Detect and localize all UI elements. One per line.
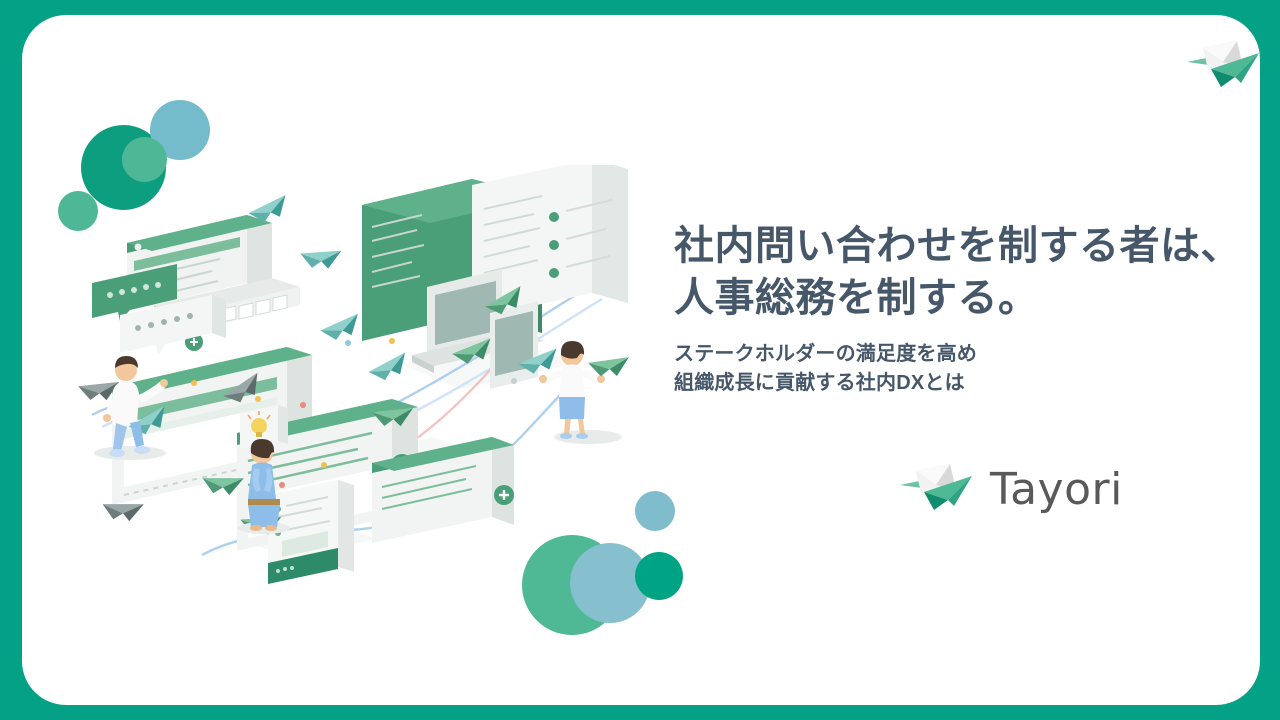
page-title: 社内問い合わせを制する者は、 人事総務を制する。 [674, 220, 1254, 324]
tayori-corner-logo-icon [1187, 37, 1260, 95]
phone-device [490, 301, 538, 389]
tayori-logo-lockup: Tayori [900, 458, 1123, 520]
slide-card: 社内問い合わせを制する者は、 人事総務を制する。 ステークホルダーの満足度を高め… [22, 15, 1260, 705]
text-block: 社内問い合わせを制する者は、 人事総務を制する。 ステークホルダーの満足度を高め… [674, 220, 1254, 398]
tayori-envelope-plane-logo-icon [900, 458, 978, 520]
isometric-internal-inquiry-dx-illustration [72, 165, 652, 585]
page-subtitle: ステークホルダーの満足度を高め 組織成長に貢献する社内DXとは [674, 340, 1254, 398]
tayori-wordmark: Tayori [990, 464, 1123, 515]
